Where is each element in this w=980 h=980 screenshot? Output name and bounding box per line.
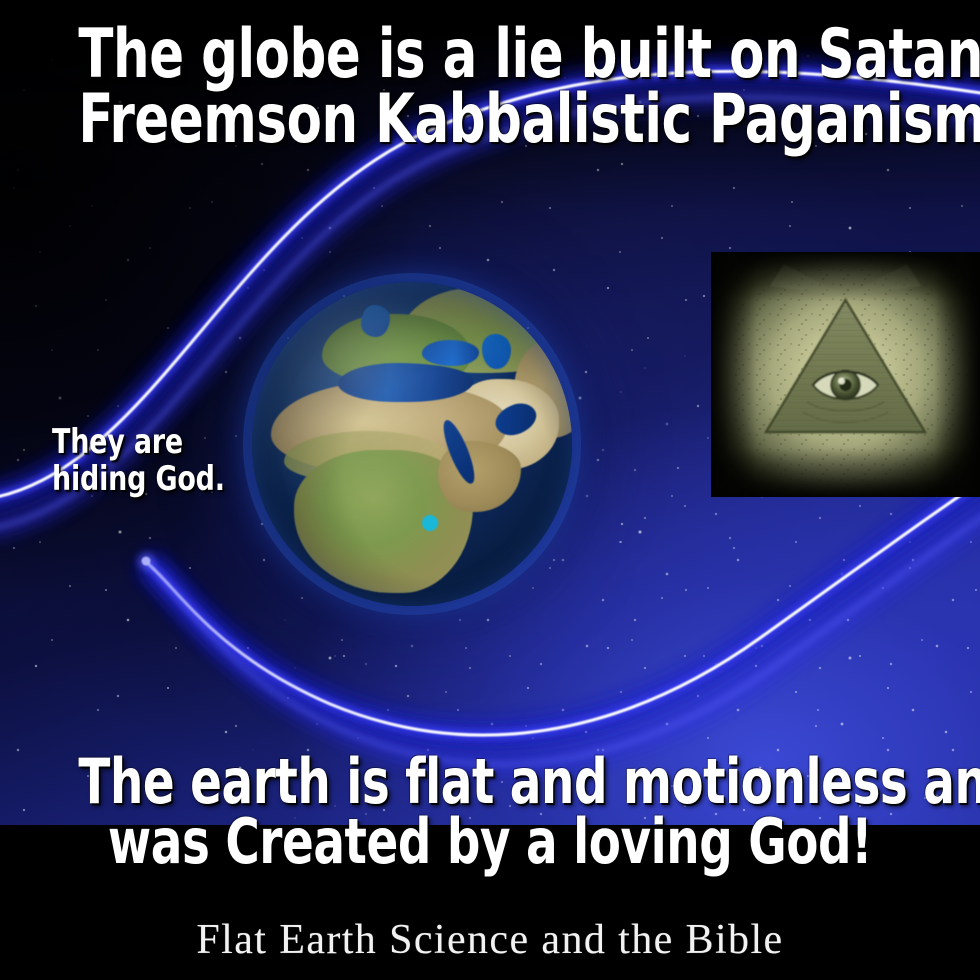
all-seeing-eye-photo (711, 252, 980, 497)
eye-photo-edge-shadow (711, 252, 980, 497)
headline-bottom-line-1: The earth is flat and motionless and (78, 752, 901, 812)
globe-shading (252, 282, 572, 606)
side-caption-line-2: hiding God. (52, 461, 225, 498)
earth-globe (252, 268, 572, 620)
meme-image: The globe is a lie built on Satanic Free… (0, 0, 980, 980)
side-caption: They are hiding God. (52, 424, 225, 497)
headline-top-line-2: Freemson Kabbalistic Paganism (78, 87, 901, 152)
side-caption-line-1: They are (52, 424, 225, 461)
footer-caption: Flat Earth Science and the Bible (0, 916, 980, 964)
page-title-top: The globe is a lie built on Satanic Free… (78, 22, 901, 153)
page-title-bottom: The earth is flat and motionless and was… (78, 752, 901, 871)
headline-top-line-1: The globe is a lie built on Satanic (78, 22, 901, 87)
globe-sphere (252, 282, 572, 606)
headline-bottom-line-2: was Created by a loving God! (78, 812, 901, 872)
